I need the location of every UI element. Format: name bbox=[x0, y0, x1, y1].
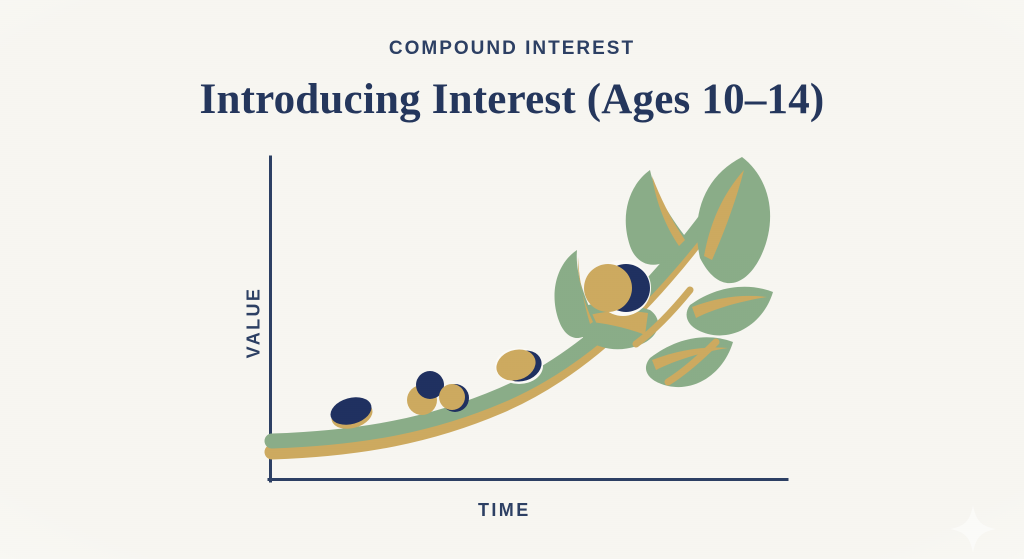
leaf-right-mid bbox=[687, 287, 773, 336]
leaf-top-large bbox=[697, 157, 770, 283]
y-axis-label: VALUE bbox=[243, 287, 264, 359]
growth-curve-green bbox=[272, 168, 740, 441]
coin-small-gold-rim bbox=[439, 384, 469, 412]
x-axis-label: TIME bbox=[478, 500, 531, 521]
slide-canvas: COMPOUND INTEREST Introducing Interest (… bbox=[0, 0, 1024, 559]
sparkle-icon bbox=[950, 505, 996, 553]
growth-chart-illustration bbox=[0, 0, 1024, 559]
coin-large-gold bbox=[584, 264, 632, 312]
leaf-upper-left bbox=[626, 170, 688, 265]
